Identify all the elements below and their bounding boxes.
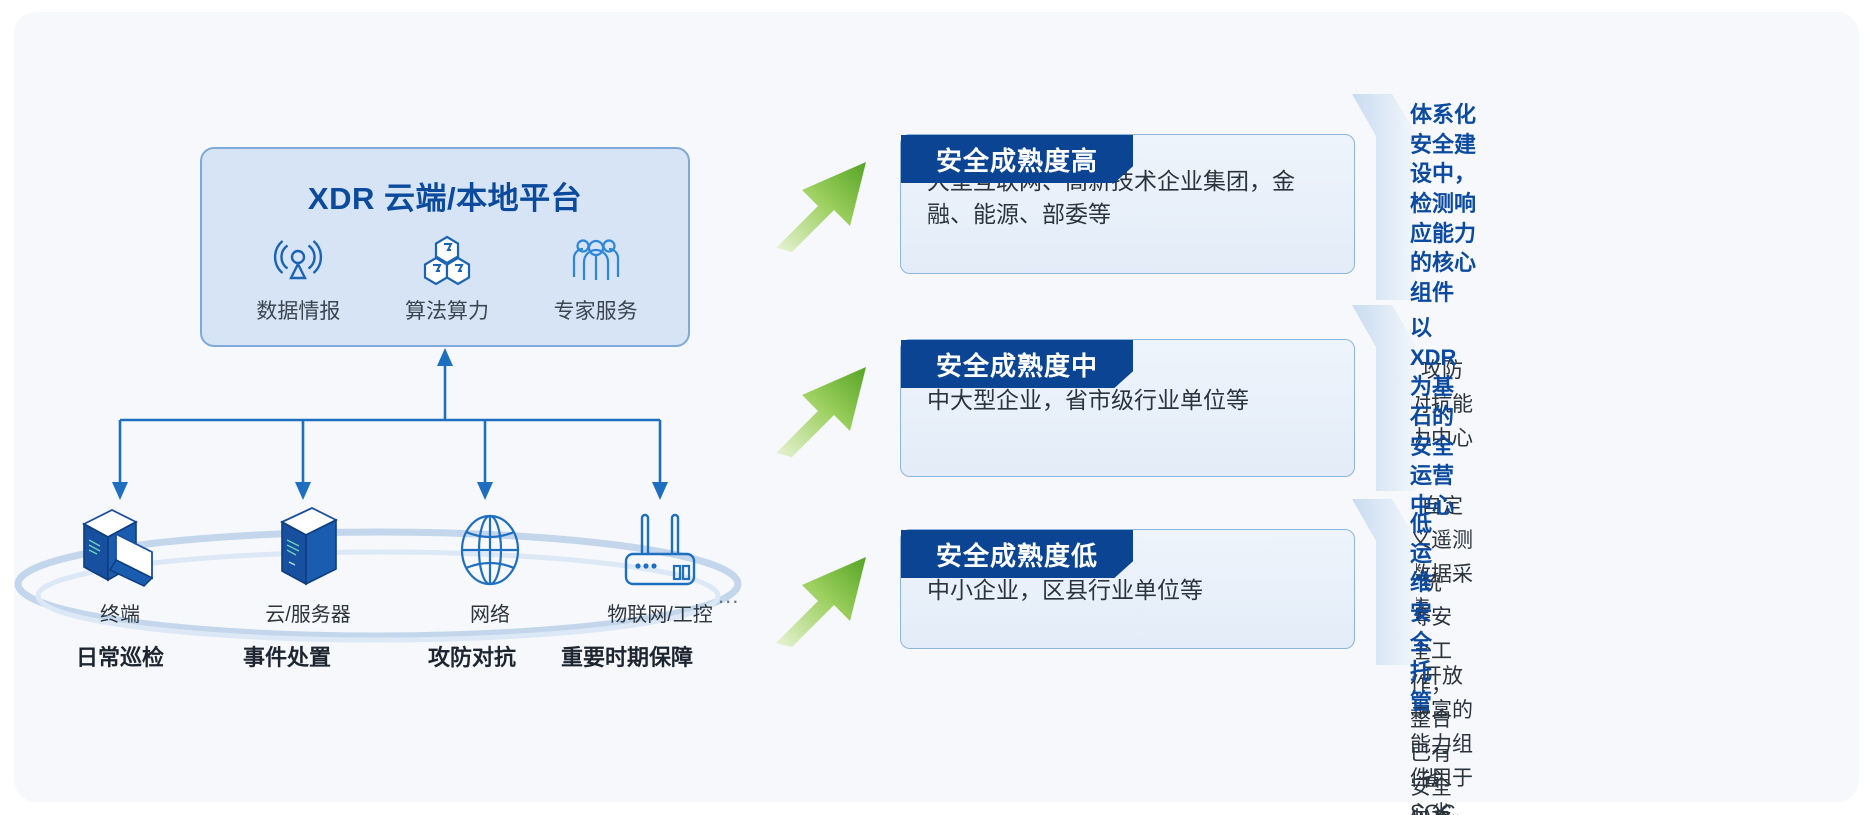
device-network: 网络 <box>420 500 560 627</box>
capability-label: 数据情报 <box>256 295 340 325</box>
status-badge-high: 安全成熟度高 <box>901 135 1133 183</box>
device-label: 云/服务器 <box>238 598 378 627</box>
annotation-bullets: ·省心省力，一键式托管安全 ·事件微信推送，云端本地联动快速闭环 <box>1410 729 1452 815</box>
device-server: 云/服务器 <box>238 500 378 627</box>
annotation-title: 以XDR为基石的安全运营中心 <box>1410 313 1456 521</box>
capability-expert-service: 专家服务 <box>521 229 670 339</box>
maturity-card-medium: 中大型企业，省市级行业单位等 安全成熟度中 <box>900 339 1355 477</box>
annotation-low: 低运维安全托管 ·省心省力，一键式托管安全 ·事件微信推送，云端本地联动快速闭环 <box>1410 509 1452 815</box>
diagram-canvas: XDR 云端/本地平台 数据情报 <box>0 0 1869 815</box>
page-title: XDR 云端/本地平台 <box>202 173 688 218</box>
device-label: 网络 <box>420 598 560 627</box>
maturity-card-low: 中小企业，区县行业单位等 安全成熟度低 <box>900 529 1355 649</box>
phase-label-incident-handling: 事件处置 <box>192 640 382 672</box>
radar-signal-icon <box>269 229 327 291</box>
devices-ellipsis: ... <box>718 583 739 609</box>
maturity-card-high: 大型互联网、高新技术企业集团，金融、能源、部委等 安全成熟度高 <box>900 134 1355 274</box>
expert-team-icon <box>567 229 625 291</box>
capability-row: 数据情报 <box>224 229 670 339</box>
globe-network-icon <box>420 500 560 592</box>
status-badge-low: 安全成熟度低 <box>901 530 1133 578</box>
list-item: ·省心省力，一键式托管安全 <box>1410 729 1452 815</box>
capability-data-intelligence: 数据情报 <box>224 229 373 339</box>
router-iot-icon <box>590 500 730 592</box>
desktop-terminal-icon <box>50 500 190 592</box>
device-iot: 物联网/工控 <box>590 500 730 627</box>
device-label: 物联网/工控 <box>590 598 730 627</box>
capability-label: 专家服务 <box>554 295 638 325</box>
xdr-platform-box: XDR 云端/本地平台 数据情报 <box>200 147 690 347</box>
green-arrow-icon <box>770 152 890 256</box>
status-badge-medium: 安全成熟度中 <box>901 340 1133 388</box>
green-arrow-icon <box>770 547 890 651</box>
device-terminal: 终端 <box>50 500 190 627</box>
phase-label-daily-inspection: 日常巡检 <box>25 640 215 672</box>
capability-algorithm-compute: 算法算力 <box>373 229 522 339</box>
device-label: 终端 <box>50 598 190 627</box>
bullet-dot-icon: · <box>1410 768 1417 791</box>
hexagon-cubes-icon <box>418 229 476 291</box>
green-arrow-icon <box>770 357 890 461</box>
server-rack-icon <box>238 500 378 592</box>
capability-label: 算法算力 <box>405 295 489 325</box>
annotation-title: 低运维安全托管 <box>1410 509 1452 717</box>
phase-label-critical-period: 重要时期保障 <box>532 640 722 672</box>
annotation-title: 体系化安全建设中， 检测响应能力的核心组件 <box>1410 100 1482 308</box>
